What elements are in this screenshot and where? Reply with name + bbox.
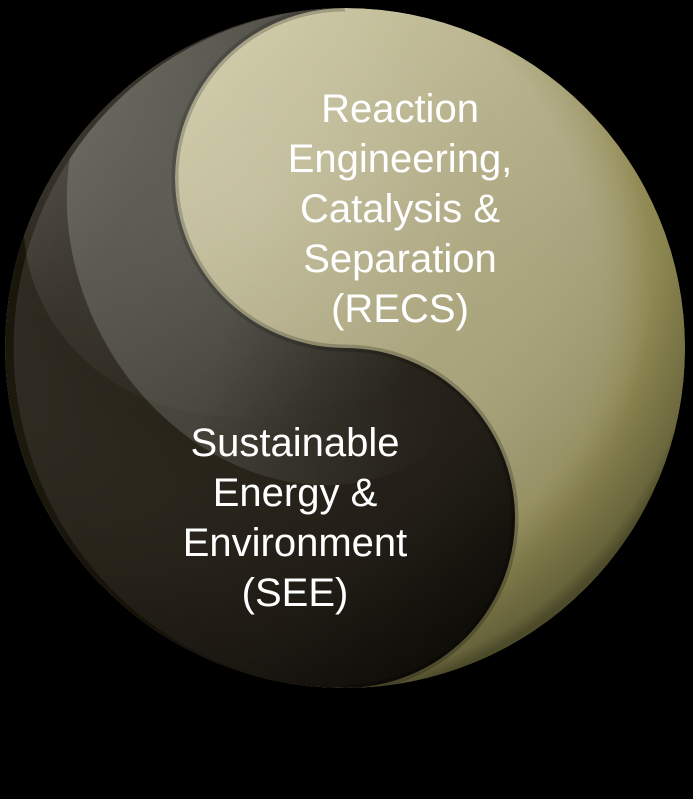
diagram-canvas: Reaction Engineering, Catalysis & Separa… — [0, 0, 693, 799]
sphere-group — [0, 0, 685, 688]
yin-yang-graphic — [0, 0, 693, 799]
